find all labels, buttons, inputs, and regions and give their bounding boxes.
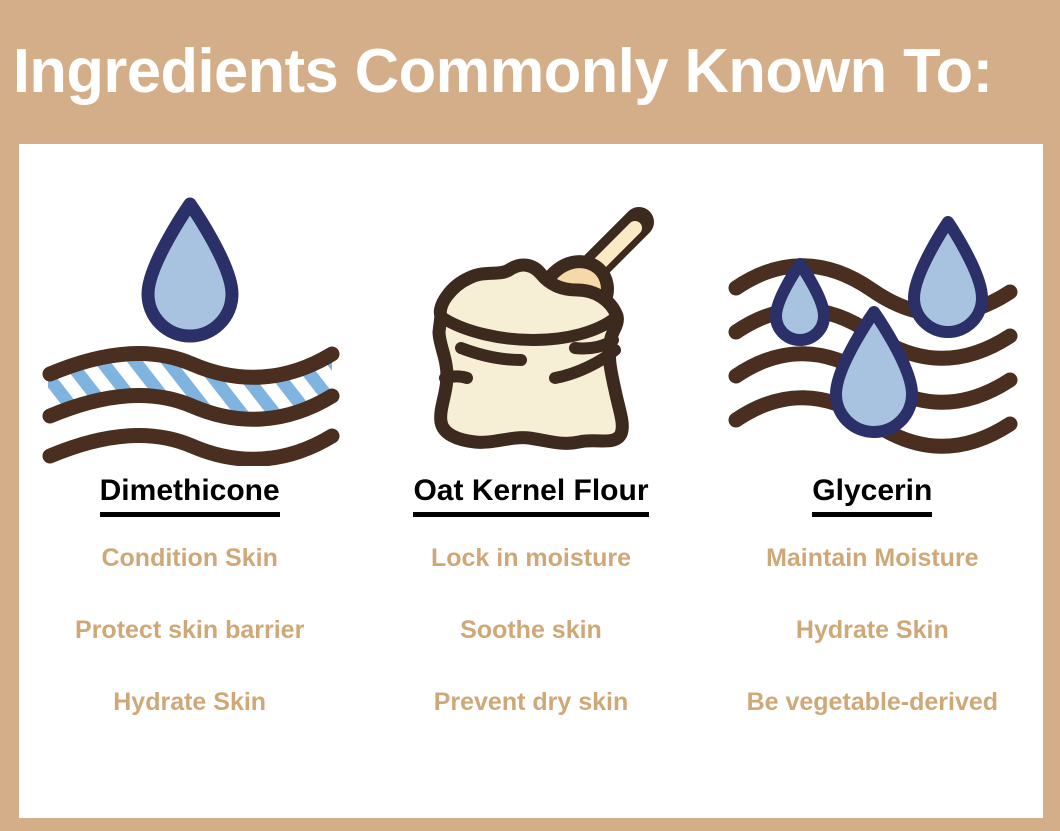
ingredient-column-dimethicone: Dimethicone Condition Skin Protect skin …: [19, 144, 360, 818]
icon-container-oat-kernel-flour: [360, 144, 701, 474]
ingredient-column-oat-kernel-flour: Oat Kernel Flour Lock in moisture Soothe…: [360, 144, 701, 818]
ingredient-name-label: Dimethicone: [100, 474, 280, 507]
ingredient-name-oat-kernel-flour: Oat Kernel Flour: [413, 474, 648, 517]
icon-container-dimethicone: [19, 144, 360, 474]
ingredient-name-dimethicone: Dimethicone: [100, 474, 280, 517]
benefit-list-glycerin: Maintain Moisture Hydrate Skin Be vegeta…: [702, 543, 1043, 717]
benefit-item: Hydrate Skin: [113, 687, 266, 717]
ingredient-column-glycerin: Glycerin Maintain Moisture Hydrate Skin …: [702, 144, 1043, 818]
ingredient-name-underline: [100, 512, 280, 517]
benefit-item: Protect skin barrier: [75, 615, 304, 645]
flour-sack-with-scoop-icon: [381, 166, 681, 466]
page-title: Ingredients Commonly Known To:: [0, 41, 993, 103]
ingredient-name-label: Glycerin: [812, 474, 932, 507]
benefit-item: Lock in moisture: [431, 543, 631, 573]
title-bar: Ingredients Commonly Known To:: [0, 0, 1060, 144]
ingredient-columns: Dimethicone Condition Skin Protect skin …: [19, 144, 1043, 818]
infographic-poster: Ingredients Commonly Known To:: [0, 0, 1060, 831]
ingredient-name-underline: [413, 512, 648, 517]
benefit-item: Maintain Moisture: [766, 543, 979, 573]
content-panel: Dimethicone Condition Skin Protect skin …: [19, 144, 1043, 818]
benefit-item: Prevent dry skin: [434, 687, 629, 717]
benefit-list-dimethicone: Condition Skin Protect skin barrier Hydr…: [19, 543, 360, 717]
benefit-list-oat-kernel-flour: Lock in moisture Soothe skin Prevent dry…: [360, 543, 701, 717]
benefit-item: Soothe skin: [460, 615, 602, 645]
ingredient-name-underline: [812, 512, 932, 517]
benefit-item: Condition Skin: [101, 543, 277, 573]
ingredient-name-glycerin: Glycerin: [812, 474, 932, 517]
benefit-item: Hydrate Skin: [796, 615, 949, 645]
ingredient-name-label: Oat Kernel Flour: [413, 474, 648, 507]
benefit-item: Be vegetable-derived: [747, 687, 999, 717]
waves-with-droplets-icon: [722, 166, 1022, 466]
icon-container-glycerin: [702, 144, 1043, 474]
droplet-over-waves-icon: [40, 166, 340, 466]
